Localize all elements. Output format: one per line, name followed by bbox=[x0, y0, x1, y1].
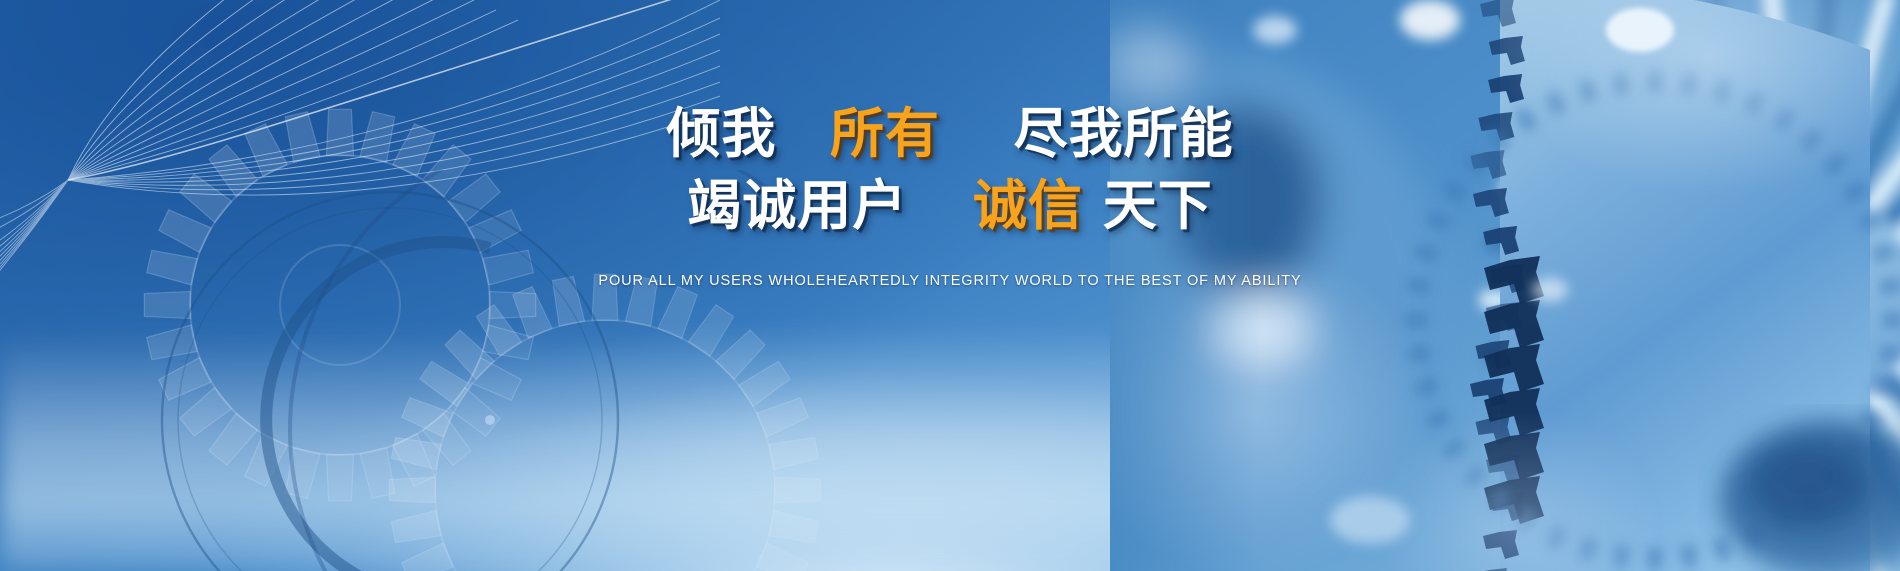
headline-line2-segment-1: 竭诚用户 bbox=[687, 179, 907, 233]
banner-subtitle: POUR ALL MY USERS WHOLEHEARTEDLY INTEGRI… bbox=[0, 273, 1900, 289]
headline-line-1: 倾我 所有 尽我所能 bbox=[0, 104, 1900, 161]
headline-line1-segment-3: 尽我所能 bbox=[1014, 107, 1234, 161]
headline-line1-segment-2: 所有 bbox=[830, 107, 940, 161]
headline-line-2: 竭诚用户 诚信 天下 bbox=[0, 175, 1900, 232]
banner-copy: 倾我 所有 尽我所能 竭诚用户 诚信 天下 POUR ALL MY USERS … bbox=[0, 104, 1900, 289]
headline-line2-segment-2: 诚信 bbox=[973, 179, 1083, 233]
headline-line1-segment-1: 倾我 bbox=[666, 107, 776, 161]
hero-banner: 倾我 所有 尽我所能 竭诚用户 诚信 天下 POUR ALL MY USERS … bbox=[0, 0, 1900, 571]
headline-line2-segment-3: 天下 bbox=[1103, 179, 1213, 233]
